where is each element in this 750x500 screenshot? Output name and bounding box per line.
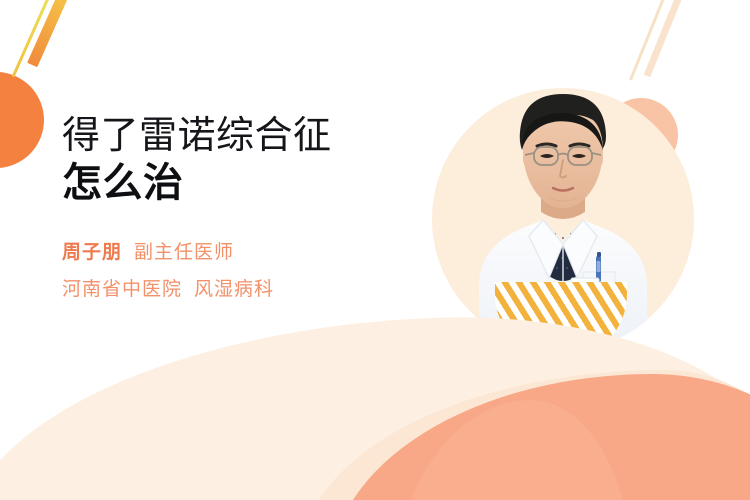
doctor-info-card: 得了雷诺综合征 怎么治 周子朋副主任医师 河南省中医院风湿病科: [0, 0, 750, 500]
cream-stripe-thick-decoration: [644, 0, 692, 77]
salmon-wave-decoration: [330, 374, 750, 500]
pale-wave-secondary-decoration: [300, 370, 750, 500]
text-block: 得了雷诺综合征 怎么治 周子朋副主任医师 河南省中医院风湿病科: [62, 112, 422, 306]
cream-stripe-thin-decoration: [629, 0, 673, 80]
doctor-title: 副主任医师: [134, 242, 234, 263]
doctor-name: 周子朋: [62, 242, 122, 263]
orange-circle-decoration: [0, 72, 44, 168]
doctor-line: 周子朋副主任医师: [62, 238, 422, 269]
department-name: 风湿病科: [194, 279, 274, 300]
salmon-wave-secondary-decoration: [392, 400, 632, 500]
striped-arc-pattern: [495, 282, 627, 360]
striped-arc-decoration: [495, 282, 627, 360]
title-line-1: 得了雷诺综合征: [62, 112, 422, 160]
hospital-name: 河南省中医院: [62, 279, 182, 300]
hospital-line: 河南省中医院风湿病科: [62, 275, 422, 306]
cream-stripe-middle-decoration: [154, 363, 174, 404]
title-line-2: 怎么治: [62, 158, 422, 208]
orange-stripe-decoration: [27, 0, 76, 67]
yellow-stripe-decoration: [12, 0, 57, 77]
